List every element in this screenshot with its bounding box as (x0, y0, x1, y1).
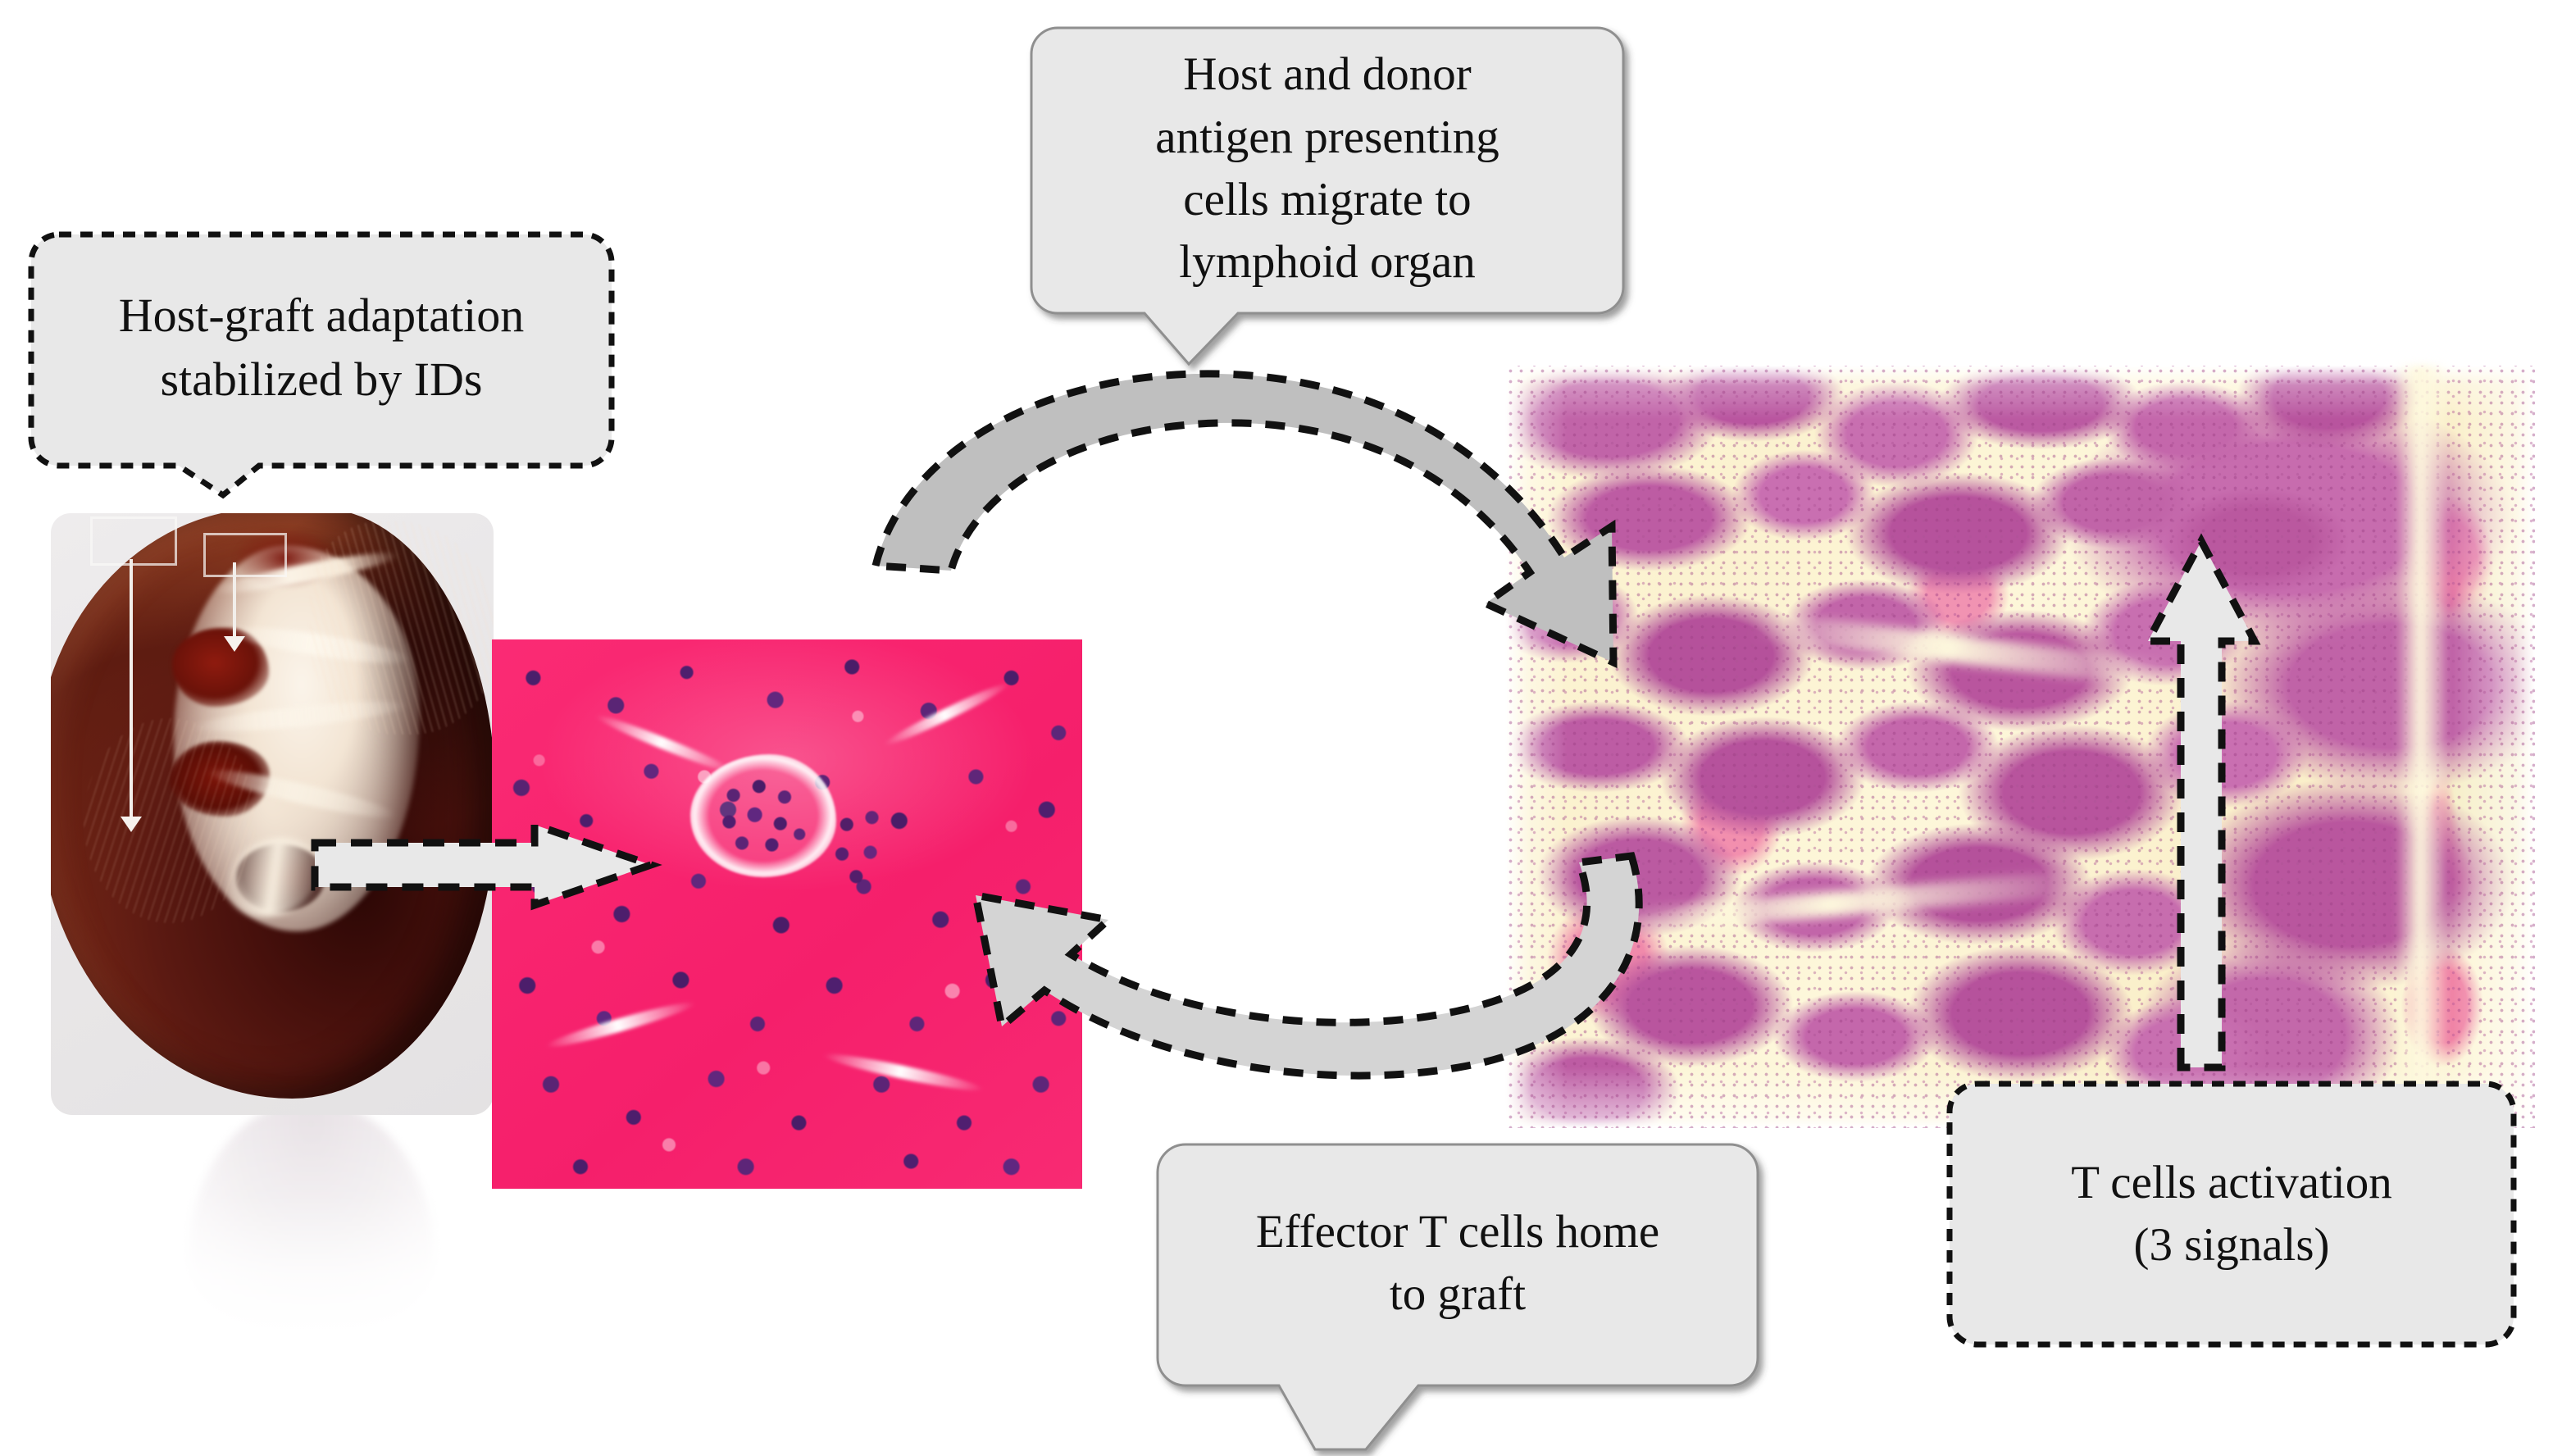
callout-effector-t-cells-home[interactable]: Effector T cells home to graft (1154, 1141, 1761, 1456)
kidney-photo-reflection (49, 1108, 508, 1338)
kidney-annotation-line-left (130, 559, 133, 821)
callout-t-cell-activation[interactable]: T cells activation (3 signals) (1945, 1079, 2519, 1349)
kidney-annotation-box-left (90, 516, 177, 566)
arrow-t-cell-activation (2132, 533, 2271, 1074)
callout-host-graft-adaptation-line1: Host-graft adaptation (119, 284, 524, 348)
callout-apc-migration-line3: cells migrate to (1155, 169, 1499, 231)
callout-t-cell-activation-line2: (3 signals) (2071, 1214, 2392, 1276)
diagram-canvas: Host-graft adaptation stabilized by IDs … (0, 0, 2562, 1456)
arrow-lymphoid-organ-to-graft (926, 820, 1754, 1099)
kidney-annotation-box-right (203, 533, 287, 577)
callout-apc-migration-line4: lymphoid organ (1155, 231, 1499, 293)
kidney-annotation-line-right (233, 562, 236, 641)
kidney-gross-specimen-photo (51, 513, 494, 1115)
arrow-graft-to-biopsy (312, 820, 656, 910)
callout-effector-t-cells-home-line2: to graft (1256, 1263, 1659, 1326)
callout-t-cell-activation-line1: T cells activation (2071, 1152, 2392, 1214)
callout-apc-migration-line2: antigen presenting (1155, 107, 1499, 169)
callout-effector-t-cells-home-line1: Effector T cells home (1256, 1201, 1659, 1263)
kidney-annotation-arrowhead-right (224, 636, 245, 652)
callout-apc-migration-line1: Host and donor (1155, 43, 1499, 106)
arrow-graft-to-lymphoid-organ (869, 353, 1697, 607)
callout-host-graft-adaptation[interactable]: Host-graft adaptation stabilized by IDs (26, 230, 617, 500)
kidney-annotation-arrowhead-left (121, 817, 142, 832)
callout-apc-migration[interactable]: Host and donor antigen presenting cells … (1028, 25, 1627, 369)
callout-host-graft-adaptation-line2: stabilized by IDs (119, 348, 524, 412)
